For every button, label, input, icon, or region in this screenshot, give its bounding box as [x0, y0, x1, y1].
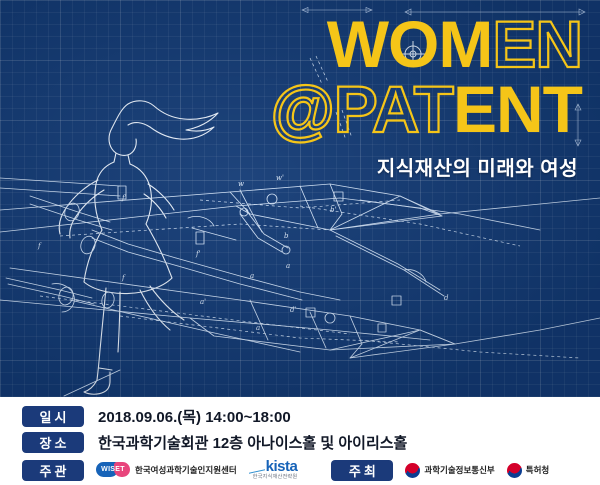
organizer-logos: WISET 한국여성과학기술인지원센터 kista 한국지식재산전략원 — [96, 459, 297, 480]
svg-text:f': f' — [195, 250, 201, 258]
badge-date: 일시 — [22, 406, 84, 427]
svg-text:w: w — [238, 180, 244, 188]
svg-text:d': d' — [290, 306, 296, 314]
patent-wing-upper — [0, 184, 442, 236]
title-line-2: @PATENT — [270, 79, 582, 140]
svg-text:d: d — [444, 294, 449, 302]
title-wom: WOM — [327, 7, 493, 81]
event-poster: .ln{fill:none;stroke:#cfe0f5;stroke-widt… — [0, 0, 600, 485]
poster-subtitle: 지식재산의 미래와 여성 — [377, 152, 578, 181]
title-ent: ENT — [453, 72, 582, 146]
taegeuk-icon — [507, 463, 522, 478]
taegeuk-icon — [405, 463, 420, 478]
wiset-mark-text: WISET — [96, 462, 130, 477]
kipo-logo: 특허청 — [507, 463, 549, 478]
svg-text:a: a — [256, 324, 260, 332]
info-row-date: 일시 2018.09.06.(목) 14:00~18:00 — [0, 403, 600, 429]
kista-logo-name: 한국지식재산전략원 — [249, 475, 298, 480]
svg-text:b': b' — [330, 206, 336, 214]
event-place-text: 한국과학기술회관 12층 아나이스홀 및 아이리스홀 — [98, 432, 407, 453]
msit-logo-name: 과학기술정보통신부 — [424, 464, 494, 476]
event-info-bar: 일시 2018.09.06.(목) 14:00~18:00 장소 한국과학기술회… — [0, 397, 600, 485]
kista-logo: kista 한국지식재산전략원 — [249, 459, 298, 480]
info-row-place: 장소 한국과학기술회관 12층 아나이스홀 및 아이리스홀 — [0, 429, 600, 455]
poster-hero: .ln{fill:none;stroke:#cfe0f5;stroke-widt… — [0, 0, 600, 397]
blueprint-labels: f' f w w' b' b a a a' d' a d f f' — [37, 174, 449, 332]
svg-text:f: f — [121, 274, 126, 282]
msit-logo: 과학기술정보통신부 — [405, 463, 494, 478]
badge-host: 주최 — [331, 460, 393, 481]
host-logos: 과학기술정보통신부 특허청 — [405, 463, 549, 478]
kista-logo-top: kista — [249, 459, 298, 474]
svg-text:b: b — [284, 232, 289, 240]
svg-text:a: a — [286, 262, 290, 270]
kipo-logo-name: 특허청 — [526, 464, 549, 476]
svg-text:f': f' — [121, 194, 127, 202]
kista-swoosh-icon — [249, 461, 265, 474]
badge-organizer: 주관 — [22, 460, 84, 481]
svg-text:a: a — [250, 272, 254, 280]
poster-title: WOMEN @PATENT — [270, 14, 582, 139]
wiset-mark-icon: WISET — [96, 462, 130, 477]
svg-text:w': w' — [276, 174, 284, 182]
title-at-pat: @PAT — [270, 72, 453, 146]
patent-wing-lower — [0, 268, 455, 358]
title-en: EN — [492, 7, 582, 81]
patent-linkage — [0, 178, 600, 396]
svg-text:a': a' — [200, 298, 206, 306]
wiset-logo-name: 한국여성과학기술인지원센터 — [135, 464, 237, 476]
badge-place: 장소 — [22, 432, 84, 453]
kista-logo-word: kista — [266, 459, 298, 474]
event-date-text: 2018.09.06.(목) 14:00~18:00 — [98, 406, 291, 427]
wiset-logo: WISET 한국여성과학기술인지원센터 — [96, 462, 237, 477]
title-line-1: WOMEN — [270, 14, 582, 75]
svg-text:f: f — [37, 242, 42, 250]
info-row-sponsors: 주관 WISET 한국여성과학기술인지원센터 kista 한국지식재산전략원 — [0, 455, 600, 485]
